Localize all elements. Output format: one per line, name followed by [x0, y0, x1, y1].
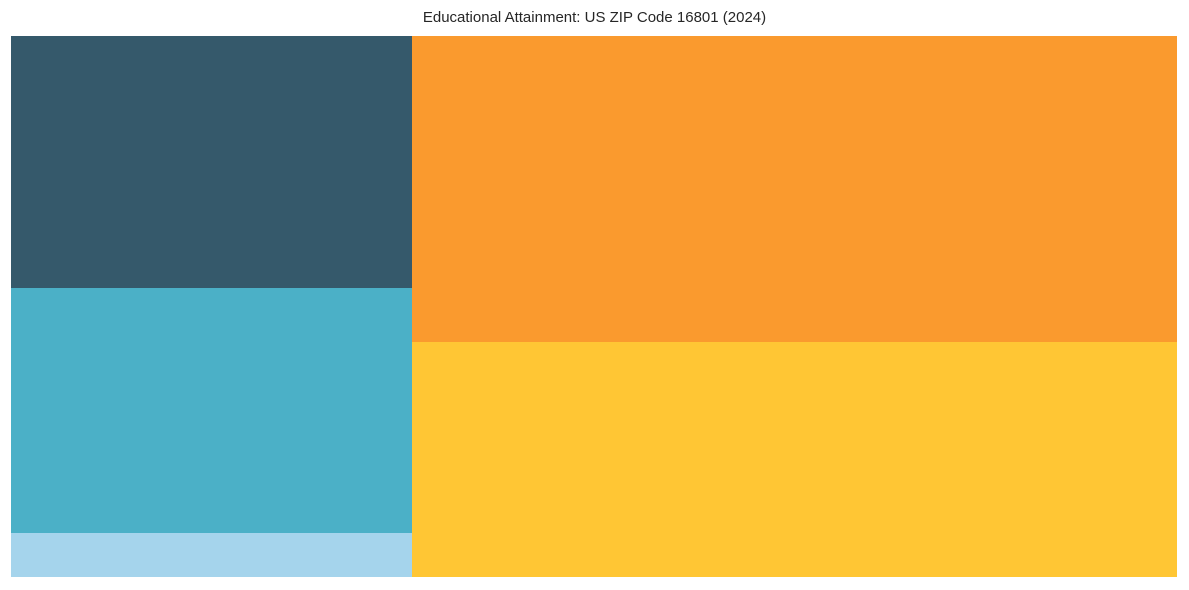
treemap-tile[interactable]: Less than high school diploma	[11, 533, 412, 577]
treemap-plot-area: Bachelor's degree Graduate or profession…	[11, 36, 1177, 577]
chart-title: Educational Attainment: US ZIP Code 1680…	[0, 8, 1189, 27]
figure-canvas: Educational Attainment: US ZIP Code 1680…	[0, 0, 1189, 590]
treemap-tile[interactable]: High school graduate (or equivalency)	[11, 36, 412, 288]
treemap-tile[interactable]: Graduate or professional degree	[412, 342, 1177, 577]
treemap-tile[interactable]: Some college or associate's degree	[11, 288, 412, 533]
treemap-tile[interactable]: Bachelor's degree	[412, 36, 1177, 342]
